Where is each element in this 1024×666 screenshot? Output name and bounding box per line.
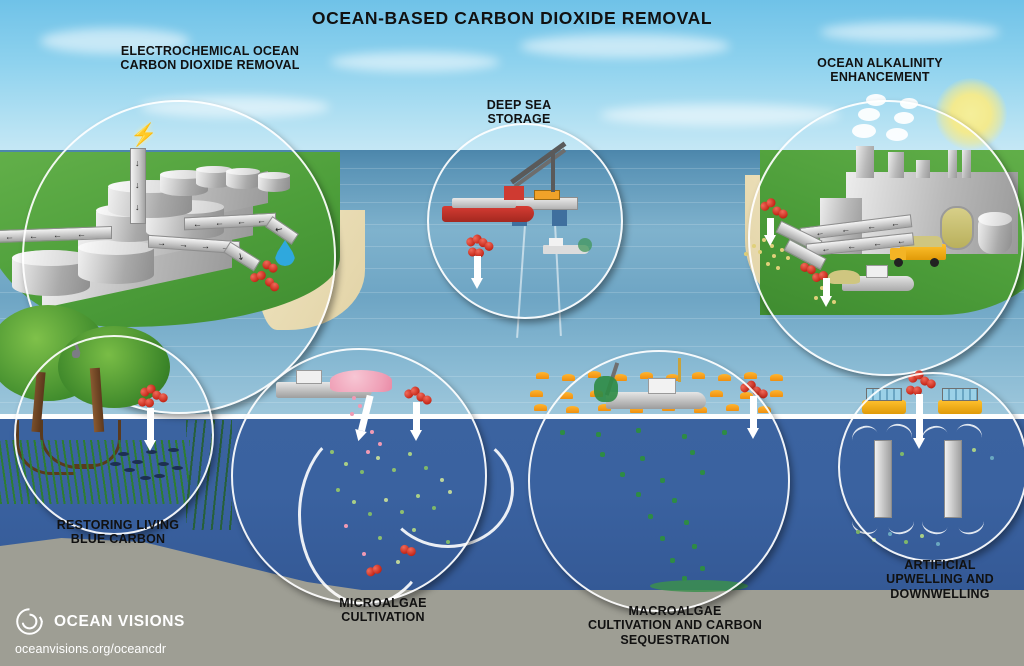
label-line: ENHANCEMENT — [790, 70, 970, 84]
org-url[interactable]: oceanvisions.org/oceancdr — [15, 642, 185, 656]
label-line: MACROALGAE — [560, 604, 790, 618]
seagrass-bed — [0, 440, 190, 504]
upwelling-pipe — [874, 440, 892, 518]
cloud — [520, 34, 730, 58]
label-deep-sea-storage: DEEP SEA STORAGE — [444, 98, 594, 127]
seaweed-cargo — [578, 238, 592, 252]
label-line: SEQUESTRATION — [560, 633, 790, 647]
label-line: CARBON DIOXIDE REMOVAL — [110, 58, 310, 72]
smoke-plume — [894, 112, 914, 124]
label-restoring-living-blue-carbon: RESTORING LIVING BLUE CARBON — [28, 518, 208, 547]
truck-wheel — [894, 258, 903, 267]
label-line: BLUE CARBON — [28, 532, 208, 546]
cloud — [140, 96, 330, 118]
down-arrow-icon — [764, 218, 777, 246]
solar-panel-array — [866, 388, 902, 401]
sun-icon — [935, 78, 1007, 150]
smoke-plume — [852, 124, 876, 138]
downwelling-pipe — [944, 440, 962, 518]
label-microalgae-cultivation: MICROALGAE CULTIVATION — [298, 596, 468, 625]
harvested-kelp — [594, 376, 618, 402]
smokestack — [916, 160, 930, 178]
label-line: DEEP SEA — [444, 98, 594, 112]
down-arrow-icon — [913, 394, 926, 449]
boat-cabin — [648, 378, 676, 394]
seafloor-kelp-deposit — [650, 580, 748, 592]
label-electrochemical-ocean-carbon-dioxide-removal: ELECTROCHEMICAL OCEAN CARBON DIOXIDE REM… — [110, 44, 310, 73]
storage-tank — [258, 172, 290, 192]
down-arrow-icon — [471, 256, 484, 289]
platform-leg — [552, 210, 567, 226]
down-arrow-icon — [747, 396, 760, 439]
label-line: OCEAN ALKALINITY — [790, 56, 970, 70]
cloud — [330, 52, 500, 72]
storage-tank — [226, 168, 260, 189]
truck-wheel — [930, 258, 939, 267]
down-arrow-icon — [144, 408, 157, 451]
smoke-plume — [900, 98, 918, 109]
label-line: UPWELLING AND — [860, 572, 1020, 586]
co2-molecule — [138, 397, 155, 408]
label-line: ARTIFICIAL — [860, 558, 1020, 572]
lightning-bolt-icon: ⚡ — [130, 122, 146, 148]
ocean-visions-swirl-logo-icon — [14, 606, 45, 637]
label-line: MICROALGAE — [298, 596, 468, 610]
label-line: DOWNWELLING — [860, 587, 1020, 601]
label-ocean-alkalinity-enhancement: OCEAN ALKALINITY ENHANCEMENT — [790, 56, 970, 85]
electrolysis-tower: ↓ ↓ ↓ — [130, 148, 146, 224]
harvest-boat-hull — [606, 392, 706, 409]
support-vessel-cabin — [549, 238, 563, 246]
smoke-plume — [858, 108, 880, 121]
smokestack — [856, 146, 874, 178]
surface-platform-float — [862, 400, 906, 414]
smokestack — [948, 150, 957, 178]
page-title: OCEAN-BASED CARBON DIOXIDE REMOVAL — [0, 8, 1024, 29]
pink-nutrient-cargo — [330, 370, 392, 392]
cloud — [600, 104, 840, 126]
label-line: CULTIVATION AND CARBON — [560, 618, 790, 632]
plant-tank — [978, 212, 1012, 254]
crane-cab — [534, 190, 560, 200]
smokestack — [962, 150, 971, 178]
label-line: ELECTROCHEMICAL OCEAN — [110, 44, 310, 58]
tanker-ship-hull — [442, 206, 534, 222]
solar-panel-array — [942, 388, 978, 401]
down-arrow-icon — [820, 278, 833, 307]
infographic-canvas: ↓ ↓ ↓ ⚡ ←← ←← ←← ←← ↙ →→ →→ ↘ E — [0, 0, 1024, 666]
seagrass-bed — [186, 420, 232, 530]
smokestack — [888, 152, 904, 178]
boat-mast — [678, 358, 681, 382]
smoke-plume — [866, 94, 886, 106]
label-line: STORAGE — [444, 112, 594, 126]
label-macroalgae-cultivation-and-carbon-sequestration: MACROALGAE CULTIVATION AND CARBON SEQUES… — [560, 604, 790, 647]
branding-block: OCEAN VISIONS oceanvisions.org/oceancdr — [14, 606, 185, 656]
smoke-plume — [886, 128, 908, 141]
label-line: RESTORING LIVING — [28, 518, 208, 532]
tanker-superstructure — [504, 186, 524, 200]
crane-mast — [551, 152, 555, 192]
boat-cabin — [866, 265, 888, 278]
boat-cabin — [296, 370, 322, 384]
label-line: CULTIVATION — [298, 610, 468, 624]
label-artificial-upwelling-and-downwelling: ARTIFICIAL UPWELLING AND DOWNWELLING — [860, 558, 1020, 601]
org-name: OCEAN VISIONS — [54, 613, 185, 631]
surface-platform-float — [938, 400, 982, 414]
storage-tank — [78, 240, 154, 284]
circulation-arrow-right — [382, 430, 514, 548]
